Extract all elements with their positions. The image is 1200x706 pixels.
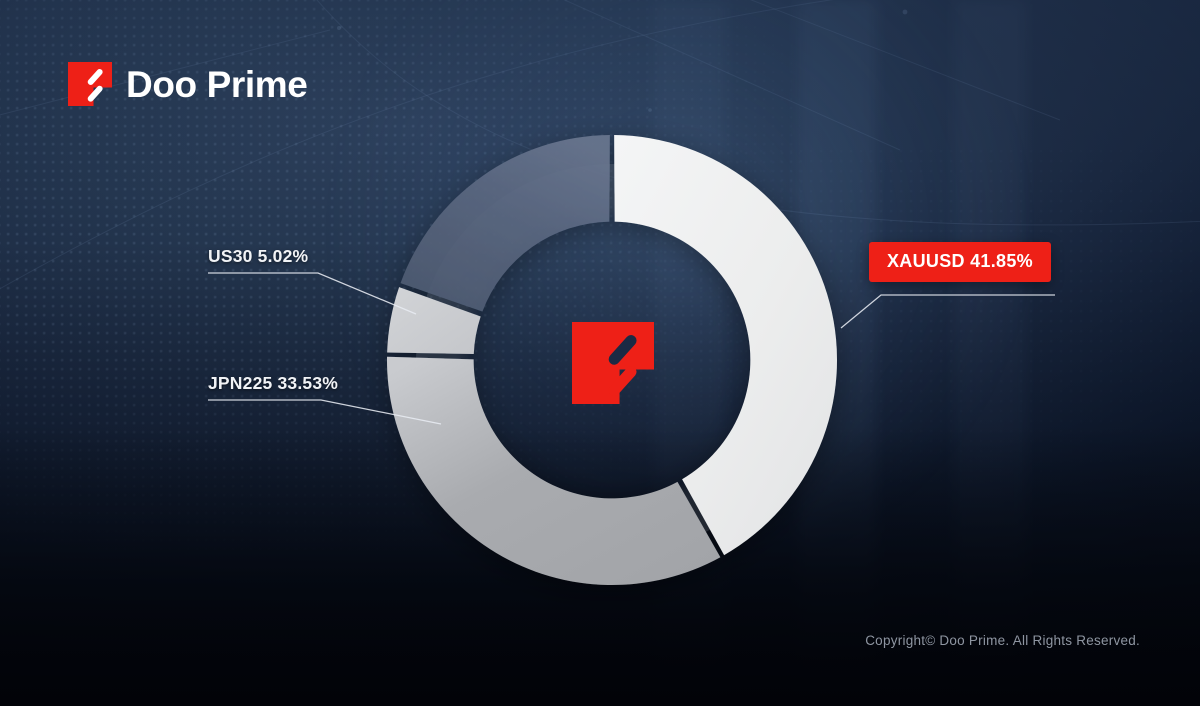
- callout-label-jpn225[interactable]: JPN225 33.53%: [208, 373, 338, 394]
- callout-badge-xauusd[interactable]: XAUUSD 41.85%: [869, 242, 1051, 282]
- doo-prime-center-mark-icon: [572, 322, 654, 404]
- infographic-canvas: Doo Prime: [0, 0, 1200, 706]
- leader-line-us30: [208, 273, 416, 314]
- callout-label-us30[interactable]: US30 5.02%: [208, 246, 308, 267]
- leader-line-xauusd: [841, 295, 1055, 328]
- copyright-text: Copyright© Doo Prime. All Rights Reserve…: [865, 633, 1140, 648]
